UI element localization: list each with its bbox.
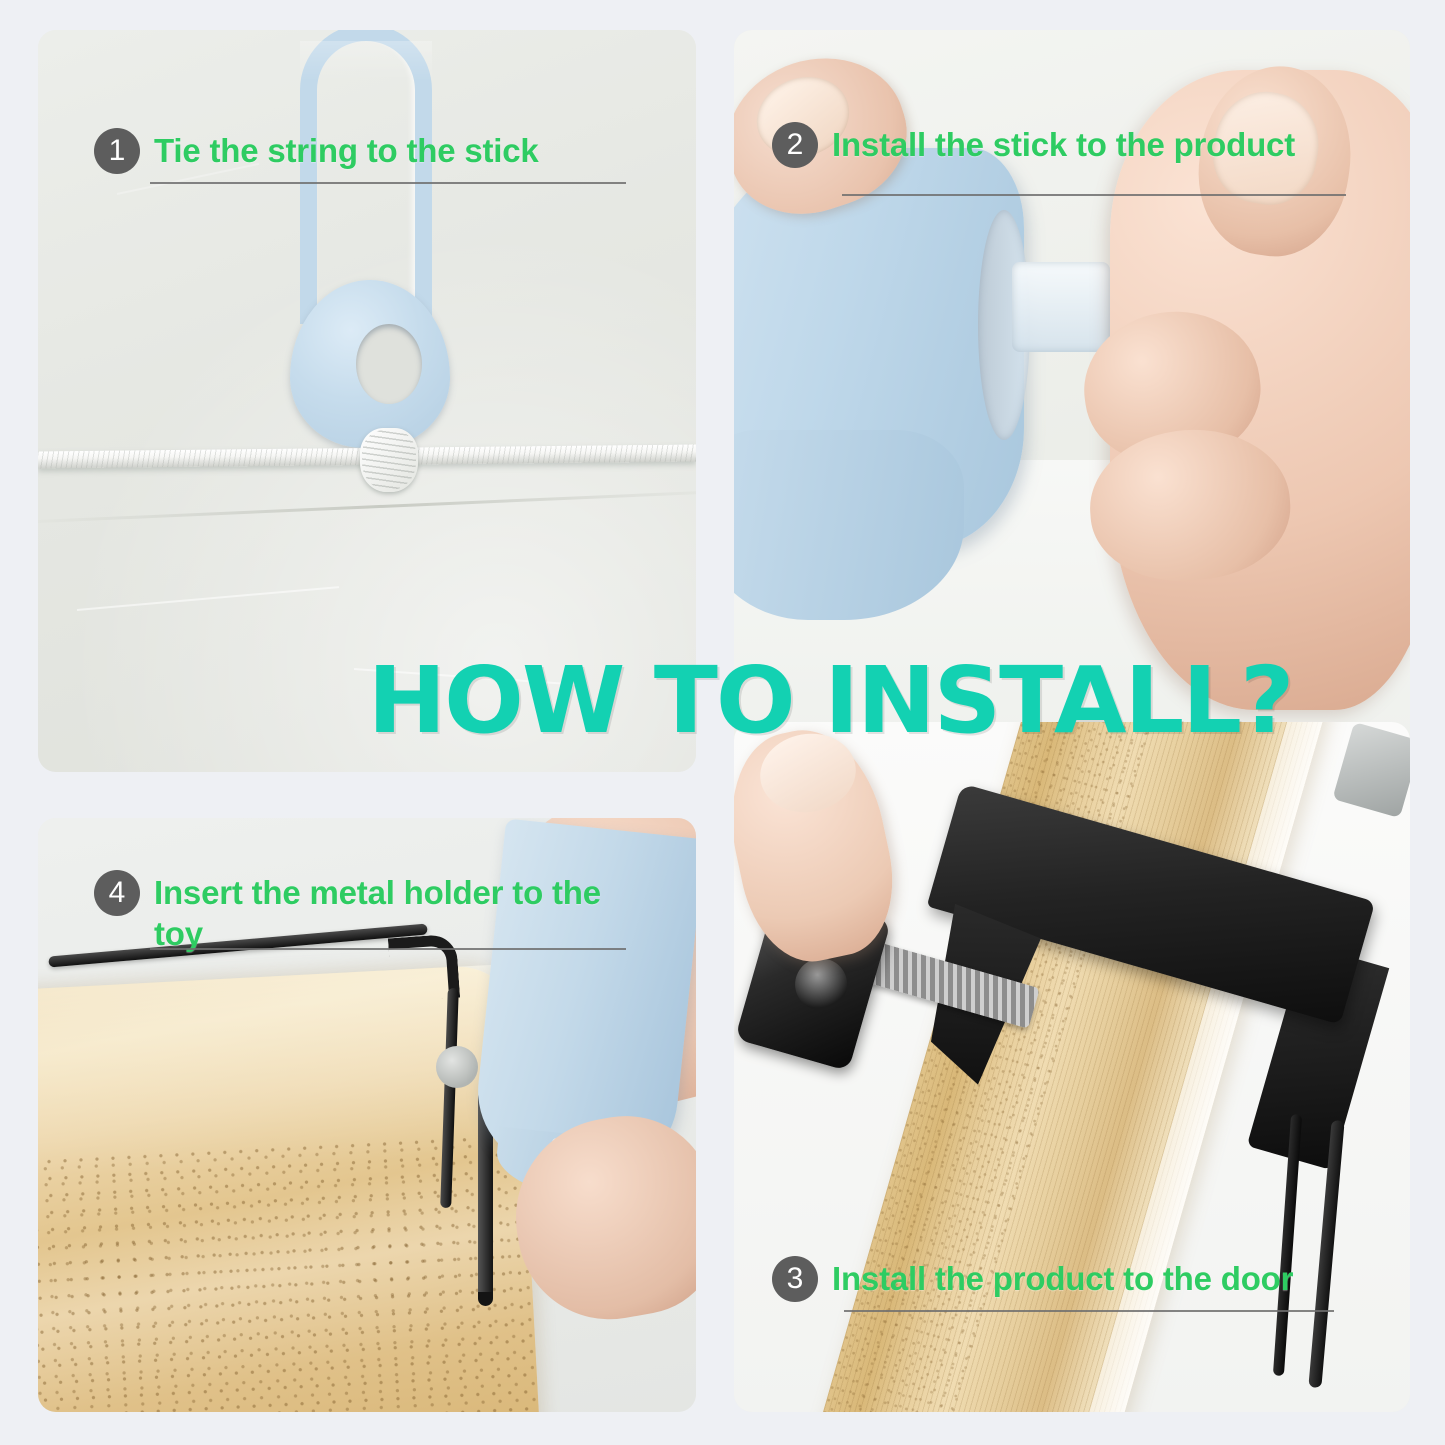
step-3-photo: [734, 722, 1410, 1412]
how-to-install-title: HOW TO INSTALL?: [368, 655, 1123, 747]
step-4-caption: 4 Insert the metal holder to the toy: [94, 870, 654, 955]
infographic-canvas: 1 Tie the string to the stick 2 I: [0, 0, 1445, 1445]
step-2-underline: [842, 194, 1346, 196]
step-panel-4: 4 Insert the metal holder to the toy: [38, 818, 696, 1412]
step-4-label: Insert the metal holder to the toy: [154, 870, 624, 955]
step-3-number-badge: 3: [772, 1256, 818, 1302]
step-3-underline: [844, 1310, 1334, 1312]
step-panel-3: 3 Install the product to the door: [734, 722, 1410, 1412]
hook-eyelet-hole: [356, 324, 422, 404]
step-1-label: Tie the string to the stick: [154, 128, 539, 171]
step-4-underline: [150, 948, 626, 950]
bamboo-speckle-texture: [38, 1133, 540, 1412]
step-2-number-badge: 2: [772, 122, 818, 168]
step-1-underline: [150, 182, 626, 184]
metal-holder-washer: [436, 1046, 478, 1088]
step-4-number-badge: 4: [94, 870, 140, 916]
step-1-caption: 1 Tie the string to the stick: [94, 128, 539, 174]
string-knot: [360, 428, 418, 492]
step-2-caption: 2 Install the stick to the product: [772, 122, 1295, 168]
product-body-lower: [734, 430, 964, 620]
step-2-label: Install the stick to the product: [832, 122, 1295, 165]
bamboo-door-frame: [38, 964, 540, 1412]
clear-plastic-post: [1012, 262, 1110, 352]
step-3-caption: 3 Install the product to the door: [772, 1256, 1293, 1302]
step-3-label: Install the product to the door: [832, 1256, 1293, 1299]
step-1-number-badge: 1: [94, 128, 140, 174]
